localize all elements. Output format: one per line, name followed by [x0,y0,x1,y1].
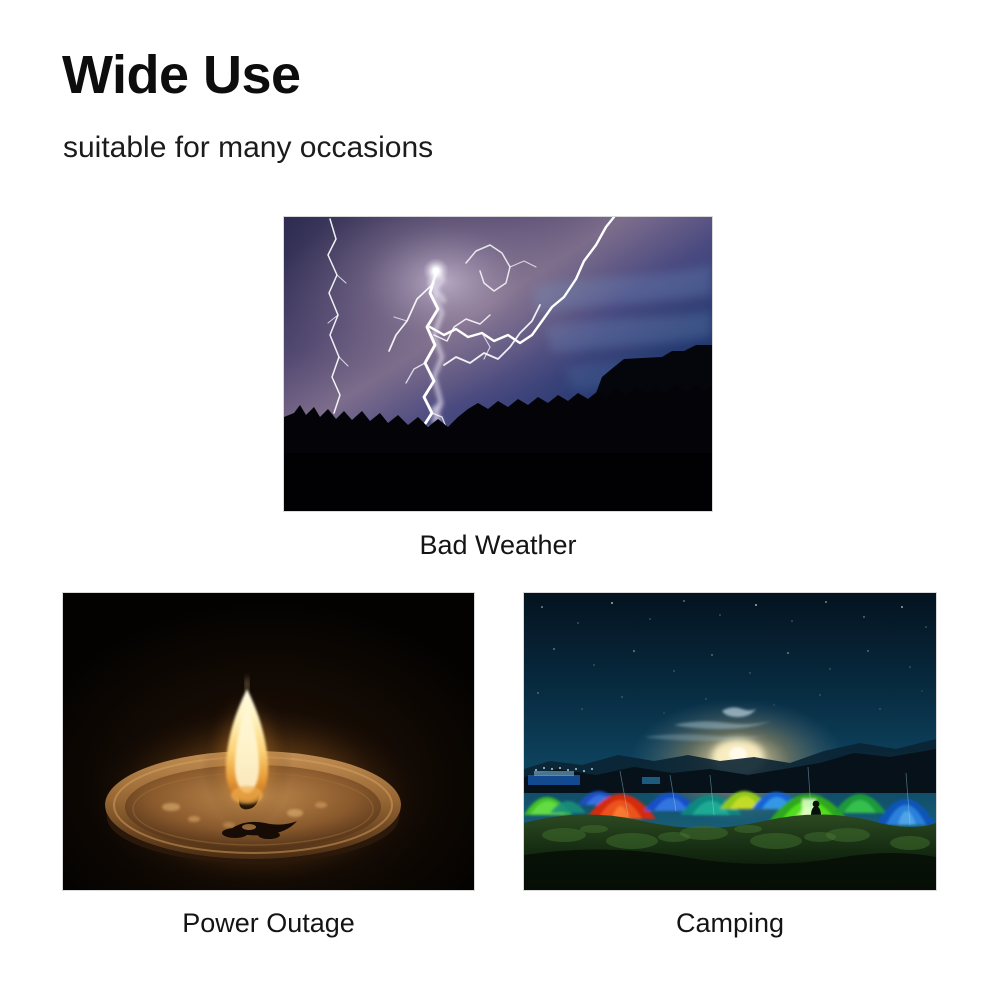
card-caption-camping: Camping [676,908,784,939]
night-campsite-tents-photo [524,593,936,890]
card-bad-weather: Bad Weather [284,217,712,511]
card-caption-bad-weather: Bad Weather [419,530,576,561]
page-title: Wide Use [62,48,301,102]
lightning-storm-photo [284,217,712,511]
candle-flame-photo [63,593,474,890]
page-subtitle: suitable for many occasions [63,133,433,163]
card-caption-power-outage: Power Outage [182,908,355,939]
card-power-outage: Power Outage [63,593,474,890]
card-camping: Camping [524,593,936,890]
